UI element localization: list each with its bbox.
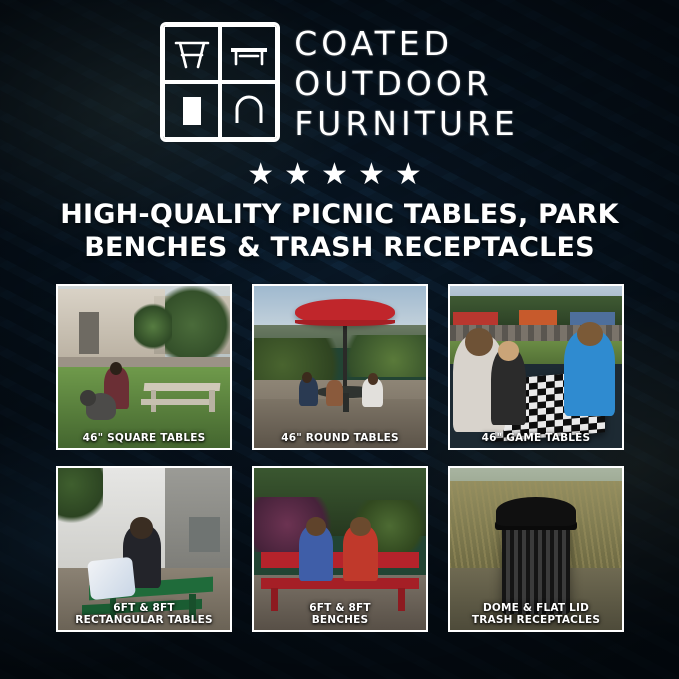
gallery-tile-benches[interactable]: 6FT & 8FT BENCHES (252, 466, 428, 632)
picnic-table-icon (163, 25, 220, 82)
photo-round-tables (254, 286, 426, 448)
caption-line-2: RECTANGULAR TABLES (75, 614, 212, 626)
caption-line-2: BENCHES (312, 614, 369, 626)
caption-line: 46" SQUARE TABLES (83, 432, 206, 444)
brand-wordmark: COATED OUTDOOR FURNITURE (294, 22, 519, 144)
product-gallery: 46" SQUARE TABLES 46" ROUND TABLES (56, 284, 624, 632)
logo-mark (160, 22, 280, 142)
brand-word-2: OUTDOOR (294, 64, 519, 104)
gallery-tile-square-tables[interactable]: 46" SQUARE TABLES (56, 284, 232, 450)
star-icon-4: ★ (358, 158, 395, 192)
caption-line-2: TRASH RECEPTACLES (472, 614, 600, 626)
photo-square-tables (58, 286, 230, 448)
headline: HIGH-QUALITY PICNIC TABLES, PARK BENCHES… (0, 198, 679, 264)
tile-caption: 6FT & 8FT BENCHES (254, 599, 426, 630)
gallery-tile-game-tables[interactable]: 46" GAME TABLES (448, 284, 624, 450)
photo-game-tables (450, 286, 622, 448)
poster-background: COATED OUTDOOR FURNITURE ★★★★★ HIGH-QUAL… (0, 0, 679, 679)
tile-caption: 6FT & 8FT RECTANGULAR TABLES (58, 599, 230, 630)
brand-word-1: COATED (294, 24, 519, 64)
star-icon-3: ★ (321, 158, 358, 192)
brand-word-3: FURNITURE (294, 104, 519, 144)
poster-content: COATED OUTDOOR FURNITURE ★★★★★ HIGH-QUAL… (0, 0, 679, 679)
tile-caption: 46" ROUND TABLES (254, 429, 426, 448)
caption-line-1: DOME & FLAT LID (483, 602, 589, 614)
gallery-tile-trash-receptacles[interactable]: DOME & FLAT LID TRASH RECEPTACLES (448, 466, 624, 632)
star-icon-2: ★ (284, 158, 321, 192)
gallery-tile-rectangular-tables[interactable]: 6FT & 8FT RECTANGULAR TABLES (56, 466, 232, 632)
caption-line-1: 6FT & 8FT (113, 602, 175, 614)
gallery-tile-round-tables[interactable]: 46" ROUND TABLES (252, 284, 428, 450)
arch-bench-icon (220, 82, 277, 139)
star-icon-5: ★ (395, 158, 432, 192)
headline-line-1: HIGH-QUALITY PICNIC TABLES, PARK (0, 198, 679, 231)
trash-receptacle-icon (163, 82, 220, 139)
tile-caption: 46" SQUARE TABLES (58, 429, 230, 448)
brand-logo: COATED OUTDOOR FURNITURE (0, 22, 679, 144)
star-icon-1: ★ (247, 158, 284, 192)
tile-caption: DOME & FLAT LID TRASH RECEPTACLES (450, 599, 622, 630)
bench-icon (220, 25, 277, 82)
caption-line-1: 6FT & 8FT (309, 602, 371, 614)
caption-line: 46" GAME TABLES (482, 432, 591, 444)
star-rating: ★★★★★ (0, 158, 679, 192)
headline-line-2: BENCHES & TRASH RECEPTACLES (0, 231, 679, 264)
tile-caption: 46" GAME TABLES (450, 429, 622, 448)
caption-line: 46" ROUND TABLES (281, 432, 399, 444)
